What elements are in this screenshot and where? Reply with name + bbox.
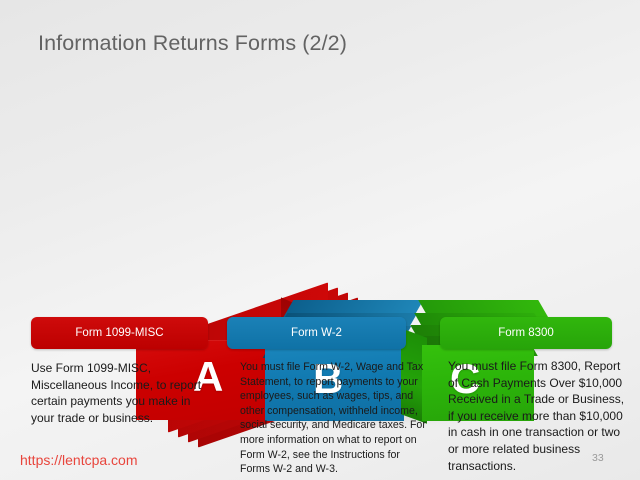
page-number: 33 bbox=[592, 452, 604, 464]
form-1099-misc-description: Use Form 1099-MISC, Miscellaneous Income… bbox=[31, 360, 207, 426]
form-1099-misc-label: Form 1099-MISC bbox=[31, 317, 208, 349]
site-url-link[interactable]: https://lentcpa.com bbox=[20, 452, 138, 468]
form-w2-description: You must file Form W-2, Wage and Tax Sta… bbox=[240, 360, 426, 477]
three-blocks-diagram: A B C bbox=[0, 140, 640, 300]
form-w2-label: Form W-2 bbox=[227, 317, 406, 349]
presentation-slide: Information Returns Forms (2/2) A B bbox=[0, 0, 640, 480]
form-8300-label: Form 8300 bbox=[440, 317, 612, 349]
page-title: Information Returns Forms (2/2) bbox=[38, 31, 347, 56]
